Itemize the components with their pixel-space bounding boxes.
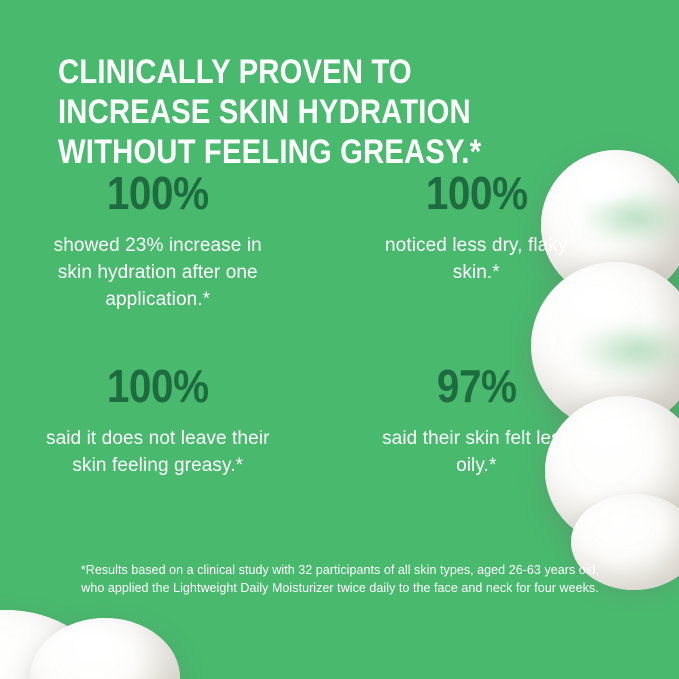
footnote-disclaimer: *Results based on a clinical study with … — [78, 562, 602, 597]
stat-value: 100% — [386, 168, 567, 218]
cream-blob-bl-large — [0, 610, 100, 679]
promo-graphic: CLINICALLY PROVEN TO INCREASE SKIN HYDRA… — [0, 0, 679, 679]
stat-description: showed 23% increase in skin hydration af… — [36, 232, 280, 313]
stats-grid: 100% showed 23% increase in skin hydrati… — [0, 168, 679, 479]
stat-description: noticed less dry, flaky skin.* — [374, 232, 580, 286]
cream-highlight-bl — [60, 634, 136, 666]
stat-block-not-greasy: 100% said it does not leave their skin f… — [0, 361, 340, 479]
stat-block-hydration: 100% showed 23% increase in skin hydrati… — [0, 168, 340, 313]
cream-blob-bl-small — [30, 618, 180, 679]
page-title: CLINICALLY PROVEN TO INCREASE SKIN HYDRA… — [58, 52, 557, 172]
stat-description: said their skin felt less oily.* — [374, 425, 580, 479]
stat-value: 97% — [386, 361, 567, 411]
stat-value: 100% — [51, 168, 265, 218]
stat-value: 100% — [51, 361, 265, 411]
stat-block-flaky-skin: 100% noticed less dry, flaky skin.* — [340, 168, 679, 313]
stat-block-less-oily: 97% said their skin felt less oily.* — [340, 361, 679, 479]
cream-swirl-bottom-left — [0, 604, 190, 679]
stat-description: said it does not leave their skin feelin… — [36, 425, 280, 479]
